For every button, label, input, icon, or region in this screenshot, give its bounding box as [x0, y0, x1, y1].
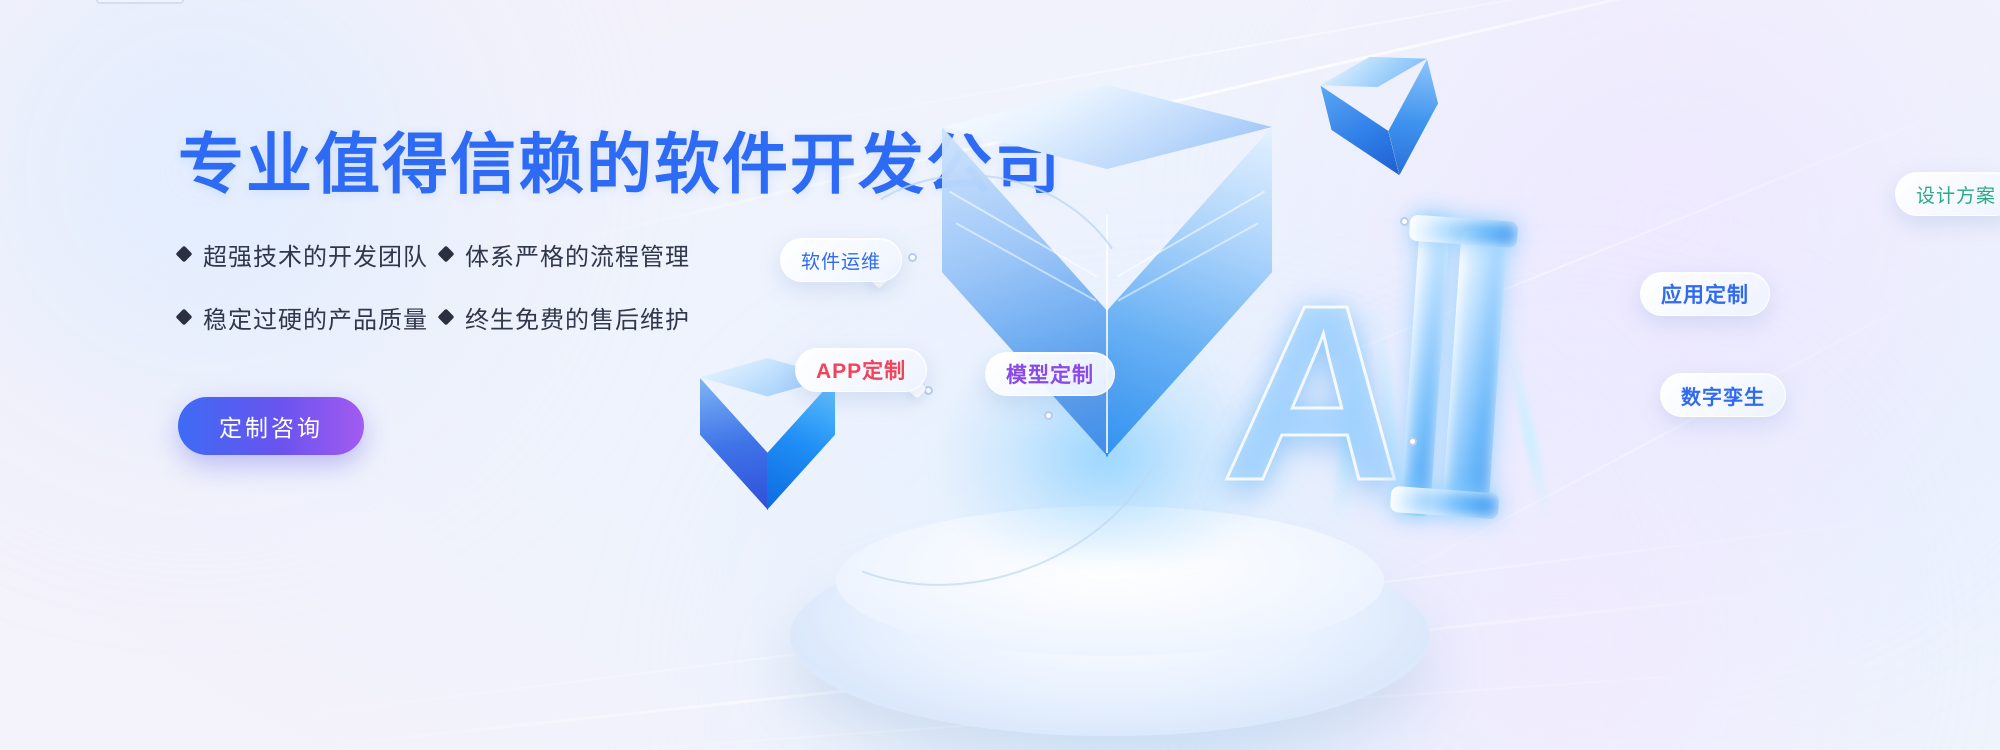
cube-seam — [1106, 215, 1108, 453]
connector-node-icon — [1044, 411, 1053, 420]
cube-face-left — [1320, 72, 1399, 188]
tag-design-plan[interactable]: 设计方案 — [1895, 172, 2000, 216]
glass-rubik-cube-icon — [940, 85, 1270, 505]
feature-label: 超强技术的开发团队 — [203, 237, 428, 272]
floating-cube-top-right-icon — [1317, 44, 1454, 192]
feature-item: 超强技术的开发团队 — [178, 237, 440, 272]
cube-face-left — [700, 378, 768, 510]
hero-illustration: A 软件运维 APP定制 模型定制 设计方案 应用定制 数字孪生 — [640, 0, 2000, 750]
glass-bar — [1400, 215, 1451, 516]
connector-node-icon — [1408, 437, 1417, 446]
custom-consult-button[interactable]: 定制咨询 — [178, 397, 364, 455]
tag-digital-twin[interactable]: 数字孪生 — [1660, 373, 1786, 417]
diamond-bullet-icon — [176, 246, 193, 263]
tag-app-custom[interactable]: APP定制 — [795, 348, 927, 392]
diamond-bullet-icon — [438, 246, 455, 263]
connector-node-icon — [1400, 217, 1409, 226]
window-frame-artifact — [96, 0, 184, 4]
cube-face-right — [767, 378, 835, 510]
diamond-bullet-icon — [438, 309, 455, 326]
tag-application-custom[interactable]: 应用定制 — [1640, 272, 1770, 316]
tag-software-ops[interactable]: 软件运维 — [780, 238, 902, 282]
glass-letter-a-icon: A — [1217, 268, 1419, 518]
feature-label: 稳定过硬的产品质量 — [203, 300, 428, 335]
diamond-bullet-icon — [176, 309, 193, 326]
tag-model-custom[interactable]: 模型定制 — [985, 352, 1115, 396]
glass-bar — [1442, 230, 1508, 515]
feature-item: 稳定过硬的产品质量 — [178, 300, 440, 335]
connector-node-icon — [908, 253, 917, 262]
hero-banner: 专业值得信赖的软件开发公司 超强技术的开发团队 体系严格的流程管理 稳定过硬的产… — [0, 0, 2000, 750]
glass-letter-i-icon — [1390, 215, 1521, 522]
